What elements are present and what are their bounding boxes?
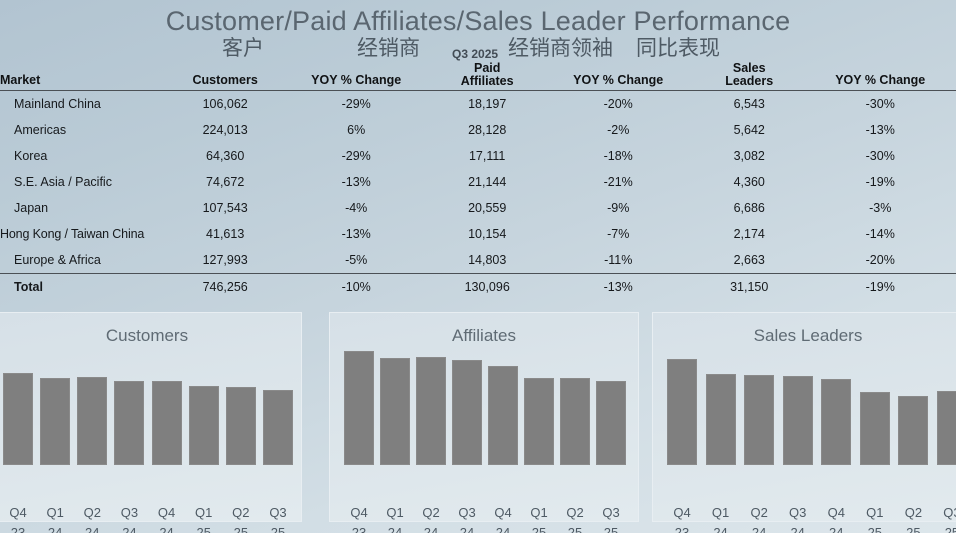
total-cell-yoy_customers: -10% xyxy=(280,274,431,301)
cell-yoy_affiliates: -2% xyxy=(542,117,693,143)
market-name: Korea xyxy=(0,149,47,163)
cell-yoy_customers: -29% xyxy=(280,143,431,169)
cell-leaders: 5,642 xyxy=(694,117,805,143)
chart-bar xyxy=(263,390,293,465)
cell-yoy_customers: -29% xyxy=(280,91,431,118)
cell-leaders: 2,663 xyxy=(694,247,805,274)
chart-bar xyxy=(706,374,736,465)
column-header-sales-leaders: Sales Leaders xyxy=(694,62,805,91)
cell-leaders: 6,686 xyxy=(694,195,805,221)
slide-canvas: Customer/Paid Affiliates/Sales Leader Pe… xyxy=(0,0,956,533)
chart-bar xyxy=(860,392,890,465)
cell-yoy_leaders: -13% xyxy=(804,117,956,143)
cell-leaders: 6,543 xyxy=(694,91,805,118)
cell-affiliates: 18,197 xyxy=(432,91,543,118)
cell-yoy_affiliates: -21% xyxy=(542,169,693,195)
cell-yoy_customers: -5% xyxy=(280,247,431,274)
table-row: Mainland China106,062-29%18,197-20%6,543… xyxy=(0,91,956,118)
cell-yoy_affiliates: -7% xyxy=(542,221,693,247)
cell-market: Hong Kong / Taiwan China xyxy=(0,221,170,247)
cell-leaders: 3,082 xyxy=(694,143,805,169)
axis-tick-label: Q124 xyxy=(706,503,736,533)
cell-yoy_leaders: -30% xyxy=(804,143,956,169)
performance-table: Market Customers YOY % Change Paid Affil… xyxy=(0,62,956,300)
column-header-market: Market xyxy=(0,62,170,91)
cell-yoy_leaders: -14% xyxy=(804,221,956,247)
cell-yoy_affiliates: -18% xyxy=(542,143,693,169)
table-row: Hong Kong / Taiwan China41,613-13%10,154… xyxy=(0,221,956,247)
axis-tick-label: Q125 xyxy=(860,503,890,533)
axis-tick-label: Q125 xyxy=(524,503,554,533)
cell-customers: 127,993 xyxy=(170,247,281,274)
column-header-paid-affiliates: Paid Affiliates xyxy=(432,62,543,91)
cell-market: S.E. Asia / Pacific xyxy=(0,169,170,195)
cell-customers: 41,613 xyxy=(170,221,281,247)
cell-affiliates: 20,559 xyxy=(432,195,543,221)
chart-bar xyxy=(114,381,144,465)
chart-bar xyxy=(380,358,410,465)
axis-tick-label: Q325 xyxy=(937,503,956,533)
cell-yoy_customers: -13% xyxy=(280,221,431,247)
cell-yoy_leaders: -20% xyxy=(804,247,956,274)
chart-bar xyxy=(524,378,554,465)
cell-leaders: 2,174 xyxy=(694,221,805,247)
chart-bar xyxy=(3,373,33,465)
cell-affiliates: 28,128 xyxy=(432,117,543,143)
chart-bar xyxy=(898,396,928,465)
column-header-paid-line2: Affiliates xyxy=(432,75,543,88)
market-name: Americas xyxy=(0,123,66,137)
axis-tick-label: Q124 xyxy=(40,503,70,533)
table-total-row: Total746,256-10%130,096-13%31,150-19% xyxy=(0,274,956,301)
column-header-yoy-customers: YOY % Change xyxy=(280,62,431,91)
cell-customers: 74,672 xyxy=(170,169,281,195)
market-name: Mainland China xyxy=(0,97,101,111)
axis-tick-label: Q424 xyxy=(152,503,182,533)
page-title: Customer/Paid Affiliates/Sales Leader Pe… xyxy=(0,6,956,36)
cell-market: Europe & Africa xyxy=(0,247,170,274)
title-block: Customer/Paid Affiliates/Sales Leader Pe… xyxy=(0,6,956,63)
axis-tick-label: Q225 xyxy=(898,503,928,533)
subtitle-row: 客户 经销商 Q3 2025 经销商领袖 同比表现 xyxy=(0,37,956,63)
chart-bar xyxy=(560,378,590,465)
chart-title-sales-leaders: Sales Leaders xyxy=(653,326,956,346)
market-name: Europe & Africa xyxy=(0,253,101,267)
axis-tick-label: Q225 xyxy=(560,503,590,533)
column-header-paid-line1: Paid xyxy=(432,62,543,75)
axis-tick-label: Q324 xyxy=(452,503,482,533)
chart-bar xyxy=(667,359,697,465)
table-body: Mainland China106,062-29%18,197-20%6,543… xyxy=(0,91,956,301)
axis-tick-label: Q224 xyxy=(744,503,774,533)
column-header-sales-line1: Sales xyxy=(694,62,805,75)
cell-customers: 224,013 xyxy=(170,117,281,143)
total-cell-market: Total xyxy=(0,274,170,301)
cell-affiliates: 10,154 xyxy=(432,221,543,247)
axis-tick-label: Q424 xyxy=(821,503,851,533)
chart-title-affiliates: Affiliates xyxy=(330,326,638,346)
axis-tick-label: Q125 xyxy=(189,503,219,533)
chart-panel-sales-leaders: Sales Leaders Q423Q124Q224Q324Q424Q125Q2… xyxy=(652,312,956,522)
column-header-sales-line2: Leaders xyxy=(694,75,805,88)
cell-affiliates: 21,144 xyxy=(432,169,543,195)
chart-bar xyxy=(596,381,626,465)
chart-bar xyxy=(821,379,851,465)
performance-table-wrapper: Market Customers YOY % Change Paid Affil… xyxy=(0,62,956,300)
axis-tick-label: Q324 xyxy=(783,503,813,533)
table-header: Market Customers YOY % Change Paid Affil… xyxy=(0,62,956,91)
chart-plot-affiliates: Q423Q124Q224Q324Q424Q125Q225Q325 xyxy=(330,347,638,465)
axis-tick-label: Q423 xyxy=(3,503,33,533)
market-name: S.E. Asia / Pacific xyxy=(0,175,112,189)
cell-yoy_customers: 6% xyxy=(280,117,431,143)
charts-row: Customers Q423Q124Q224Q324Q424Q125Q225Q3… xyxy=(0,312,956,533)
column-header-yoy-leaders: YOY % Change xyxy=(804,62,956,91)
axis-tick-label: Q225 xyxy=(226,503,256,533)
cell-affiliates: 17,111 xyxy=(432,143,543,169)
market-name: Japan xyxy=(0,201,48,215)
axis-tick-label: Q325 xyxy=(263,503,293,533)
total-cell-yoy_leaders: -19% xyxy=(804,274,956,301)
chart-title-customers: Customers xyxy=(0,326,301,346)
cell-yoy_leaders: -3% xyxy=(804,195,956,221)
cell-yoy_leaders: -19% xyxy=(804,169,956,195)
table-header-row: Market Customers YOY % Change Paid Affil… xyxy=(0,62,956,91)
cell-affiliates: 14,803 xyxy=(432,247,543,274)
chart-bars-sales-leaders xyxy=(667,347,956,465)
cell-customers: 106,062 xyxy=(170,91,281,118)
chart-bar xyxy=(937,391,956,465)
cell-market: Japan xyxy=(0,195,170,221)
total-cell-customers: 746,256 xyxy=(170,274,281,301)
table-row: Japan107,543-4%20,559-9%6,686-3% xyxy=(0,195,956,221)
cell-customers: 107,543 xyxy=(170,195,281,221)
chart-bar xyxy=(344,351,374,465)
chart-bar xyxy=(226,387,256,465)
cell-yoy_leaders: -30% xyxy=(804,91,956,118)
chart-bar xyxy=(488,366,518,465)
cell-yoy_affiliates: -20% xyxy=(542,91,693,118)
axis-tick-label: Q423 xyxy=(344,503,374,533)
market-name: Hong Kong / Taiwan China xyxy=(0,227,144,241)
chart-plot-customers: Q423Q124Q224Q324Q424Q125Q225Q325 xyxy=(0,347,301,465)
cell-yoy_affiliates: -9% xyxy=(542,195,693,221)
chart-bar xyxy=(77,377,107,465)
axis-tick-label: Q325 xyxy=(596,503,626,533)
axis-tick-label: Q324 xyxy=(114,503,144,533)
chart-xaxis-sales-leaders: Q423Q124Q224Q324Q424Q125Q225Q325 xyxy=(667,503,956,533)
total-cell-yoy_affiliates: -13% xyxy=(542,274,693,301)
cell-customers: 64,360 xyxy=(170,143,281,169)
chart-bar xyxy=(452,360,482,465)
axis-tick-label: Q423 xyxy=(667,503,697,533)
table-row: Korea64,360-29%17,111-18%3,082-30% xyxy=(0,143,956,169)
chart-bar xyxy=(189,386,219,465)
chart-bar xyxy=(783,376,813,465)
cell-market: Americas xyxy=(0,117,170,143)
chart-bar xyxy=(152,381,182,465)
chart-xaxis-customers: Q423Q124Q224Q324Q424Q125Q225Q325 xyxy=(3,503,293,533)
chart-panel-affiliates: Affiliates Q423Q124Q224Q324Q424Q125Q225Q… xyxy=(329,312,639,522)
column-header-customers: Customers xyxy=(170,62,281,91)
chart-bar xyxy=(40,378,70,465)
axis-tick-label: Q224 xyxy=(77,503,107,533)
total-cell-leaders: 31,150 xyxy=(694,274,805,301)
cell-market: Korea xyxy=(0,143,170,169)
axis-tick-label: Q224 xyxy=(416,503,446,533)
cell-market: Mainland China xyxy=(0,91,170,118)
chart-bars-affiliates xyxy=(344,347,626,465)
cell-leaders: 4,360 xyxy=(694,169,805,195)
chart-panel-customers: Customers Q423Q124Q224Q324Q424Q125Q225Q3… xyxy=(0,312,302,522)
subtitle-affiliates-zh: 经销商 xyxy=(357,37,420,61)
axis-tick-label: Q124 xyxy=(380,503,410,533)
chart-bars-customers xyxy=(3,347,293,465)
cell-yoy_affiliates: -11% xyxy=(542,247,693,274)
subtitle-leaders-zh: 经销商领袖 xyxy=(508,37,613,61)
chart-xaxis-affiliates: Q423Q124Q224Q324Q424Q125Q225Q325 xyxy=(344,503,626,533)
table-row: Americas224,0136%28,128-2%5,642-13% xyxy=(0,117,956,143)
subtitle-customers-zh: 客户 xyxy=(222,37,264,61)
chart-bar xyxy=(744,375,774,465)
column-header-yoy-affiliates: YOY % Change xyxy=(542,62,693,91)
table-row: Europe & Africa127,993-5%14,803-11%2,663… xyxy=(0,247,956,274)
total-cell-affiliates: 130,096 xyxy=(432,274,543,301)
cell-yoy_customers: -4% xyxy=(280,195,431,221)
cell-yoy_customers: -13% xyxy=(280,169,431,195)
axis-tick-label: Q424 xyxy=(488,503,518,533)
subtitle-yoy-zh: 同比表现 xyxy=(636,37,720,61)
chart-bar xyxy=(416,357,446,465)
table-row: S.E. Asia / Pacific74,672-13%21,144-21%4… xyxy=(0,169,956,195)
chart-plot-sales-leaders: Q423Q124Q224Q324Q424Q125Q225Q325 xyxy=(653,347,956,465)
